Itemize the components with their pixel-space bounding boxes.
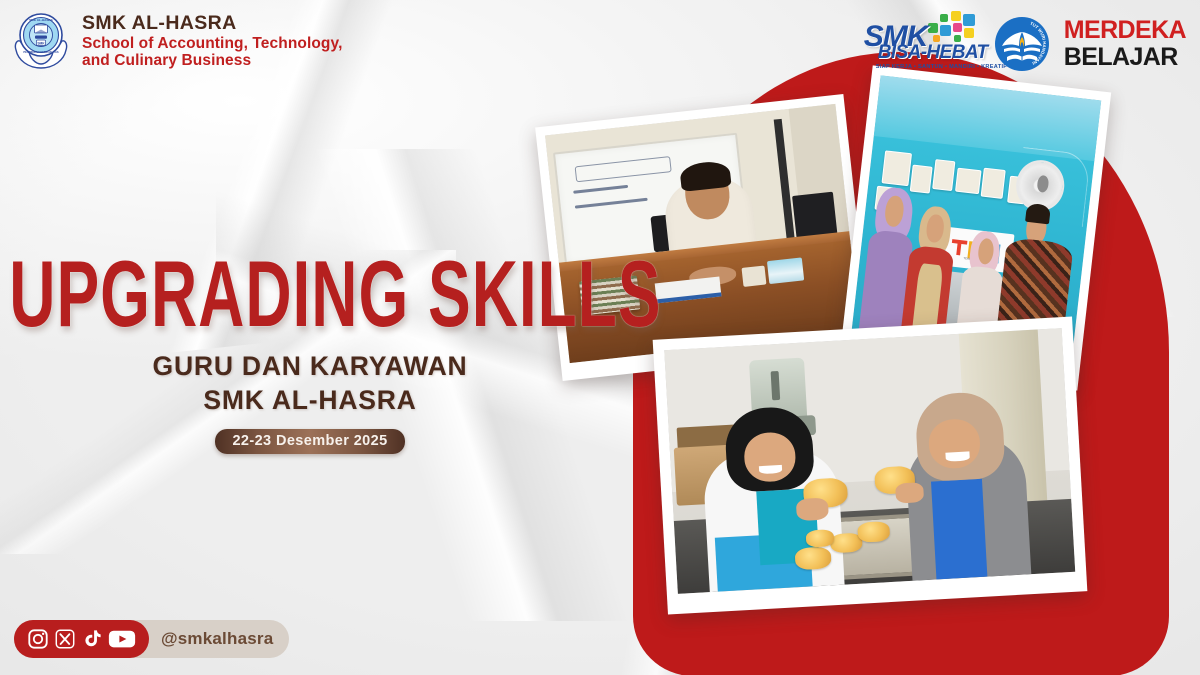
merdeka-belajar-line1: MERDEKA [1064,18,1186,43]
poster-canvas: SMK SMK AL-HASRA PENDIDIKAN BERKUALITAS … [0,0,1200,675]
photo-image-kitchen [664,328,1075,594]
poster-header: SMK SMK AL-HASRA PENDIDIKAN BERKUALITAS … [0,0,1200,96]
social-media-bar: @smkalhasra [14,620,289,658]
smk-bisa-hebat-tagline: SIAP KERJA • SANTUN • MANDIRI • KREATIF [876,64,1007,70]
tut-wuri-handayani-icon: TUT WURI HANDAYANI [994,16,1050,72]
school-brand: SMK SMK AL-HASRA PENDIDIKAN BERKUALITAS … [10,10,342,72]
svg-text:SMK: SMK [37,41,45,45]
smk-bisa-hebat-logo: SMK BISA-HEBAT SIAP KERJA • SANTUN • MAN… [862,8,980,80]
social-pill: @smkalhasra [14,620,289,658]
smk-bisa-hebat-squares-icon [924,10,980,46]
subtitle-line2: SMK AL-HASRA [0,384,620,418]
school-name: SMK AL-HASRA [82,13,342,35]
subtitle-wrap: GURU DAN KARYAWAN SMK AL-HASRA 22-23 Des… [0,350,620,455]
social-handle[interactable]: @smkalhasra [161,629,273,649]
school-tagline-line2: and Culinary Business [82,52,342,69]
school-tagline-line1: School of Accounting, Technology, [82,35,342,52]
youtube-icon[interactable] [108,628,136,650]
partner-logo-group: SMK BISA-HEBAT SIAP KERJA • SANTUN • MAN… [862,8,1186,80]
svg-text:PENDIDIKAN BERKUALITAS: PENDIDIKAN BERKUALITAS [23,50,59,54]
photo-card-kitchen [653,316,1088,614]
school-brand-text: SMK AL-HASRA School of Accounting, Techn… [82,13,342,70]
subtitle-line1: GURU DAN KARYAWAN [0,350,620,384]
event-date-badge: 22-23 Desember 2025 [215,429,404,454]
title-block: UPGRADING SKILLS GURU DAN KARYAWAN SMK A… [0,248,620,454]
merdeka-belajar-logo: MERDEKA BELAJAR [1064,18,1186,70]
social-icon-group [14,620,149,658]
al-hasra-crest-icon: SMK SMK AL-HASRA PENDIDIKAN BERKUALITAS [10,10,72,72]
svg-text:SMK AL-HASRA: SMK AL-HASRA [29,18,54,22]
smk-bisa-hebat-sub: BISA-HEBAT [878,42,988,64]
page-title: UPGRADING SKILLS [9,248,610,340]
tiktok-icon[interactable] [81,628,103,650]
x-twitter-icon[interactable] [54,628,76,650]
merdeka-belajar-line2: BELAJAR [1064,45,1186,70]
instagram-icon[interactable] [27,628,49,650]
